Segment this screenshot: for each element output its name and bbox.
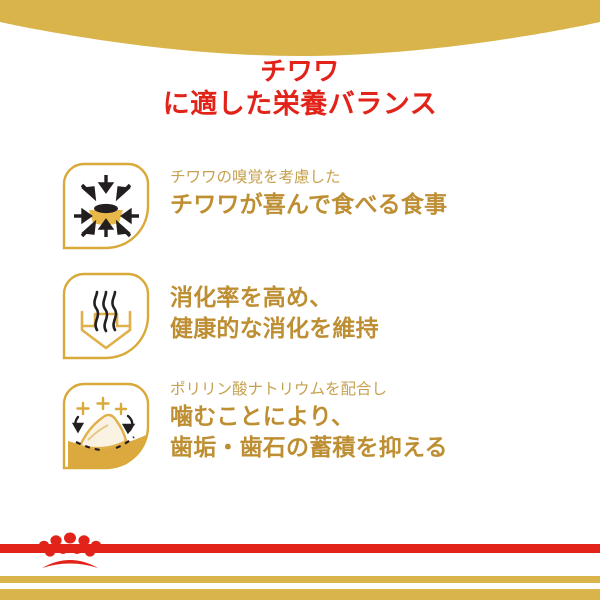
feature-headline-line-2: 歯垢・歯石の蓄積を抑える [170,432,448,463]
feature-subtitle: ポリリン酸ナトリウムを配合し [170,380,448,401]
footer-brand-bar [0,530,600,600]
gold-arc-shape [0,0,600,60]
tooth-shape [80,415,126,448]
feature-headline: チワワが喜んで食べる食事 [170,189,447,220]
feature-item-dental: ポリリン酸ナトリウムを配合し 噛むことにより、 歯垢・歯石の蓄積を抑える [0,378,600,474]
feature-text-block: ポリリン酸ナトリウムを配合し 噛むことにより、 歯垢・歯石の蓄積を抑える [170,378,448,462]
feature-item-aroma: チワワの嗅覚を考慮した チワワが喜んで食べる食事 [0,158,600,254]
feature-item-digestion: 消化率を高め、 健康的な消化を維持 [0,268,600,364]
feature-headline-line-2: 健康的な消化を維持 [170,313,379,344]
kibble-mound [94,204,118,213]
feature-text-block: 消化率を高め、 健康的な消化を維持 [170,268,379,343]
tooth-dental-care-icon [58,378,154,474]
feature-headline-line-1: 噛むことにより、 [170,401,448,432]
title-line-2: に適した栄養バランス [0,88,600,121]
title-line-1: チワワ [0,56,600,88]
top-gold-arc-band [0,0,600,60]
page-title: チワワ に適した栄養バランス [0,56,600,121]
royal-canin-crown-icon [34,530,106,572]
steam-waves [94,292,116,331]
dog-bowl-aroma-icon [58,158,154,254]
feature-headline-line-1: 消化率を高め、 [170,282,379,313]
gold-stripe-upper [0,576,600,583]
gold-arc-path [0,0,600,56]
sparkle-group [78,398,127,414]
gold-stripe-lower [0,589,600,600]
feature-list: チワワの嗅覚を考慮した チワワが喜んで食べる食事 消化率を高め、 健康的な消化を… [0,158,600,488]
feature-text-block: チワワの嗅覚を考慮した チワワが喜んで食べる食事 [170,158,447,220]
stomach-digestion-icon [58,268,154,364]
feature-subtitle: チワワの嗅覚を考慮した [170,168,447,189]
